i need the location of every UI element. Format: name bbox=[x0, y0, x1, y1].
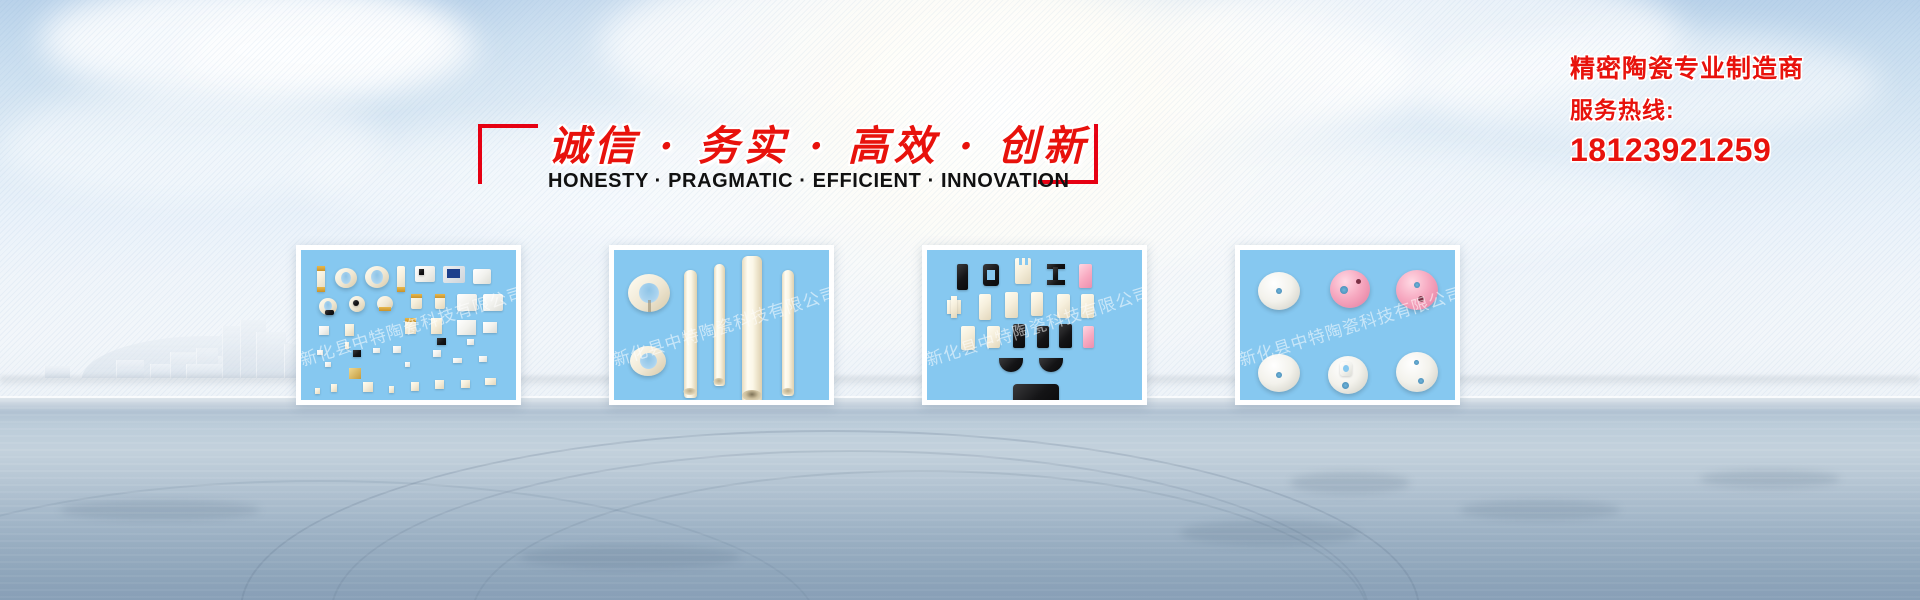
ceramic-part bbox=[345, 324, 354, 336]
ceramic-part bbox=[961, 326, 975, 350]
ceramic-part bbox=[1013, 324, 1025, 348]
ceramic-chip bbox=[405, 362, 410, 367]
promotional-banner: 诚信 · 务实 · 高效 · 创新 HONESTY · PRAGMATIC · … bbox=[0, 0, 1920, 600]
product-panel[interactable]: 新化县中特陶瓷科技有限公司 bbox=[296, 245, 521, 405]
ceramic-disc-hole bbox=[1343, 365, 1349, 372]
building-tower bbox=[256, 332, 286, 378]
ceramic-part-cutout bbox=[987, 270, 995, 280]
ceramic-part bbox=[1079, 264, 1092, 288]
ceramic-block bbox=[1013, 384, 1059, 400]
ceramic-ring-hole bbox=[640, 353, 657, 369]
hotline-phone-number[interactable]: 18123921259 bbox=[1570, 130, 1900, 170]
ceramic-rod bbox=[714, 264, 725, 386]
ceramic-chip bbox=[435, 380, 444, 389]
slogan-chinese: 诚信 · 务实 · 高效 · 创新 bbox=[548, 112, 1028, 172]
ceramic-rod-end bbox=[782, 388, 794, 395]
ceramic-part-end bbox=[405, 318, 416, 322]
ceramic-chip bbox=[345, 342, 349, 349]
ceramic-tube-bore bbox=[742, 390, 762, 400]
ceramic-cap-hole bbox=[1418, 378, 1424, 384]
ceramic-chip bbox=[485, 378, 496, 385]
ceramic-cap-hole bbox=[1418, 296, 1424, 302]
ceramic-chip bbox=[411, 382, 419, 391]
ceramic-arc-part bbox=[999, 358, 1023, 372]
building-tower bbox=[222, 326, 240, 378]
ceramic-rod-end bbox=[714, 378, 725, 385]
ceramic-chip bbox=[363, 382, 373, 392]
ceramic-part-end bbox=[397, 287, 405, 292]
hotline-label: 服务热线: bbox=[1570, 92, 1900, 128]
ceramic-chip bbox=[325, 310, 334, 315]
ceramic-part bbox=[1047, 280, 1065, 285]
ceramic-part bbox=[1015, 258, 1031, 284]
ceramic-arc-part bbox=[1039, 358, 1063, 372]
ceramic-chip bbox=[317, 350, 323, 355]
ceramic-chip-blue bbox=[447, 269, 460, 278]
wet-ground bbox=[0, 398, 1920, 600]
ceramic-chip bbox=[479, 356, 487, 362]
ceramic-substrate bbox=[483, 294, 503, 311]
ceramic-part-end bbox=[317, 266, 325, 271]
ceramic-chip bbox=[353, 350, 361, 357]
ceramic-part-cutout bbox=[1019, 258, 1022, 265]
ceramic-chip bbox=[331, 384, 337, 392]
product-panel[interactable]: 新化县中特陶瓷科技有限公司 bbox=[1235, 245, 1460, 405]
ceramic-substrate bbox=[483, 322, 497, 333]
ceramic-chip bbox=[325, 362, 331, 367]
ceramic-part-end bbox=[317, 287, 325, 292]
ceramic-chip bbox=[453, 358, 462, 363]
ceramic-cap-hole bbox=[1414, 360, 1419, 365]
ceramic-rod bbox=[684, 270, 697, 398]
ceramic-part bbox=[1057, 294, 1070, 318]
product-panel-image: 新化县中特陶瓷科技有限公司 bbox=[927, 250, 1142, 400]
ceramic-chip-gold bbox=[349, 368, 361, 379]
ceramic-part bbox=[1081, 294, 1094, 318]
ceramic-tube bbox=[742, 256, 762, 400]
product-panel-strip: 新化县中特陶瓷科技有限公司 bbox=[296, 245, 1538, 405]
ceramic-cross-part bbox=[951, 296, 957, 318]
ceramic-chip bbox=[319, 326, 329, 335]
ceramic-chip bbox=[461, 380, 470, 388]
product-panel[interactable]: 新化县中特陶瓷科技有限公司 bbox=[922, 245, 1147, 405]
ceramic-chip bbox=[433, 350, 441, 357]
ceramic-part bbox=[1005, 292, 1018, 318]
ceramic-disc-hole bbox=[1276, 372, 1282, 378]
ceramic-disc-hole bbox=[1276, 288, 1282, 294]
ceramic-chip bbox=[419, 269, 424, 275]
ceramic-part-cutout bbox=[1025, 258, 1028, 265]
ceramic-part bbox=[431, 318, 442, 334]
ceramic-part-end bbox=[411, 294, 422, 298]
ceramic-part bbox=[1059, 324, 1072, 348]
ceramic-ring-hole bbox=[341, 272, 351, 284]
ceramic-part-end bbox=[435, 294, 445, 298]
company-tagline: 精密陶瓷专业制造商 bbox=[1570, 52, 1900, 86]
ceramic-substrate bbox=[473, 269, 491, 284]
ceramic-disc bbox=[1330, 270, 1370, 308]
ceramic-part bbox=[1037, 326, 1049, 348]
slogan-block: 诚信 · 务实 · 高效 · 创新 HONESTY · PRAGMATIC · … bbox=[478, 112, 1098, 204]
slogan-english: HONESTY · PRAGMATIC · EFFICIENT · INNOVA… bbox=[548, 170, 1028, 193]
product-panel[interactable]: 新化县中特陶瓷科技有限公司 bbox=[609, 245, 834, 405]
ceramic-chip bbox=[437, 338, 446, 345]
product-panel-image: 新化县中特陶瓷科技有限公司 bbox=[614, 250, 829, 400]
ceramic-substrate bbox=[415, 266, 435, 282]
bracket-top-left bbox=[478, 124, 538, 184]
ceramic-chip bbox=[389, 386, 394, 393]
ceramic-disc-hole bbox=[1340, 286, 1348, 294]
ceramic-part bbox=[957, 264, 968, 290]
ceramic-chip bbox=[315, 388, 320, 394]
ceramic-cap bbox=[1396, 352, 1438, 392]
ceramic-ring-hole bbox=[371, 270, 383, 284]
ceramic-part bbox=[1083, 326, 1094, 348]
ceramic-cap-hole bbox=[1414, 282, 1420, 288]
ceramic-disc-hole bbox=[1356, 279, 1361, 284]
product-panel-image: 新化县中特陶瓷科技有限公司 bbox=[301, 250, 516, 400]
ceramic-cap bbox=[1396, 270, 1438, 310]
ceramic-part bbox=[987, 326, 1000, 348]
ceramic-substrate bbox=[457, 320, 476, 335]
ceramic-part bbox=[979, 294, 991, 320]
ceramic-part-end bbox=[379, 307, 391, 311]
ceramic-rod-end bbox=[684, 388, 697, 395]
contact-block: 精密陶瓷专业制造商 服务热线: 18123921259 bbox=[1570, 52, 1900, 170]
product-panel-image: 新化县中特陶瓷科技有限公司 bbox=[1240, 250, 1455, 400]
ceramic-chip bbox=[467, 339, 474, 345]
ceramic-rod bbox=[782, 270, 794, 396]
ceramic-chip bbox=[353, 300, 359, 306]
ceramic-substrate bbox=[457, 294, 477, 311]
ring-slot bbox=[648, 300, 651, 312]
ceramic-chip bbox=[373, 348, 380, 353]
ceramic-chip bbox=[393, 346, 401, 353]
ceramic-disc-hole bbox=[1342, 382, 1349, 389]
ceramic-part bbox=[1031, 292, 1043, 316]
